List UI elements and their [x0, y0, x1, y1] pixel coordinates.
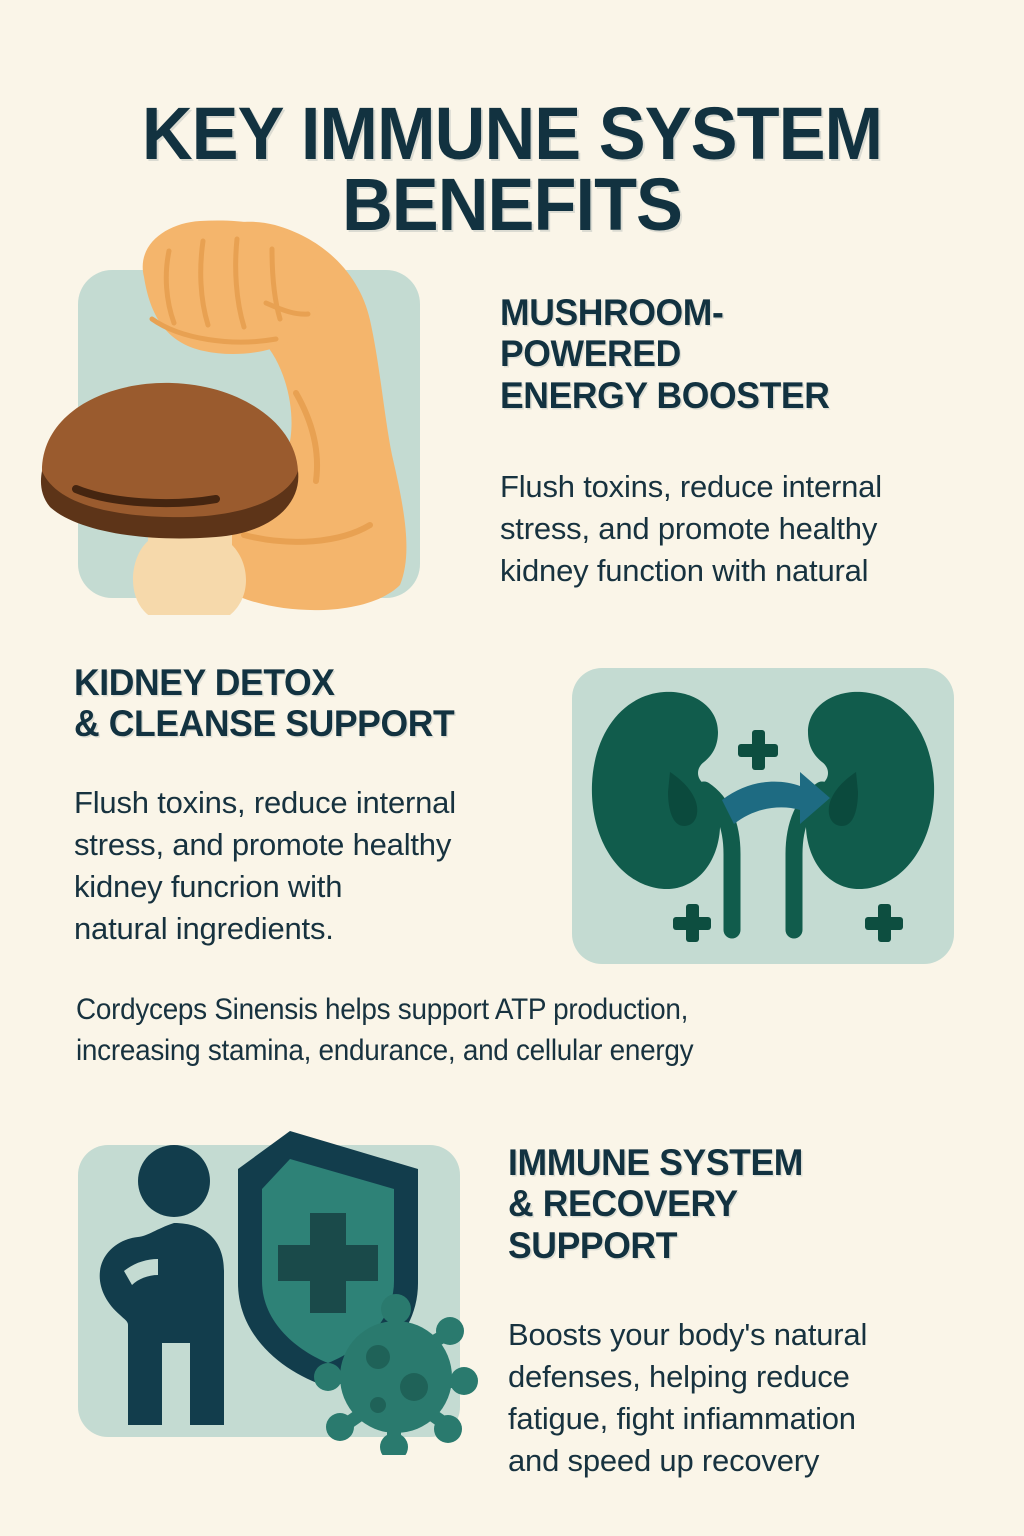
section-3-body-line-4: and speed up recovery	[508, 1440, 968, 1482]
cordyceps-note-line-1: Cordyceps Sinensis helps support ATP pro…	[76, 990, 848, 1031]
section-2-heading-line-2: & CLEANSE SUPPORT	[74, 703, 554, 744]
section-2-body-line-1: Flush toxins, reduce internal	[74, 782, 554, 824]
section-1-body: Flush toxins, reduce internal stress, an…	[500, 466, 970, 592]
kidneys-with-arrow-icon	[572, 668, 954, 964]
cordyceps-note: Cordyceps Sinensis helps support ATP pro…	[76, 990, 848, 1072]
section-2-body: Flush toxins, reduce internal stress, an…	[74, 782, 554, 951]
section-1-heading-line-2: POWERED	[500, 333, 951, 374]
section-1-body-line-3: kidney function with natural	[500, 550, 970, 592]
section-3-body: Boosts your body's natural defenses, hel…	[508, 1314, 968, 1483]
section-2-body-line-4: natural ingredients.	[74, 908, 554, 950]
section-2-body-line-2: stress, and promote healthy	[74, 824, 554, 866]
page-title-line-1: KEY IMMUNE SYSTEM	[142, 92, 882, 175]
section-2-body-line-3: kidney funcrion with	[74, 866, 554, 908]
person-shield-virus-icon	[78, 1125, 478, 1455]
section-1-heading: MUSHROOM- POWERED ENERGY BOOSTER	[500, 292, 951, 416]
section-3-heading-line-1: IMMUNE SYSTEM	[508, 1142, 959, 1183]
section-3-body-line-2: defenses, helping reduce	[508, 1356, 968, 1398]
section-1-body-line-2: stress, and promote healthy	[500, 508, 970, 550]
section-3-body-line-3: fatigue, fight infiammation	[508, 1398, 968, 1440]
flexing-arm-with-mushroom-icon	[40, 215, 460, 615]
section-3-body-line-1: Boosts your body's natural	[508, 1314, 968, 1356]
section-3-heading: IMMUNE SYSTEM & RECOVERY SUPPORT	[508, 1142, 959, 1266]
infographic-page: KEY IMMUNE SYSTEM BENEFITS	[0, 0, 1024, 1536]
section-2-heading: KIDNEY DETOX & CLEANSE SUPPORT	[74, 662, 554, 745]
section-3-heading-line-3: SUPPORT	[508, 1225, 959, 1266]
section-1-heading-line-1: MUSHROOM-	[500, 292, 951, 333]
cordyceps-note-line-2: increasing stamina, endurance, and cellu…	[76, 1031, 848, 1072]
section-1-heading-line-3: ENERGY BOOSTER	[500, 375, 951, 416]
section-1-body-line-1: Flush toxins, reduce internal	[500, 466, 970, 508]
plus-bottom-right-horizontal	[865, 917, 903, 930]
plus-top-horizontal	[738, 744, 778, 757]
section-3-heading-line-2: & RECOVERY	[508, 1183, 959, 1224]
section-2-heading-line-1: KIDNEY DETOX	[74, 662, 554, 703]
plus-bottom-left-horizontal	[673, 917, 711, 930]
